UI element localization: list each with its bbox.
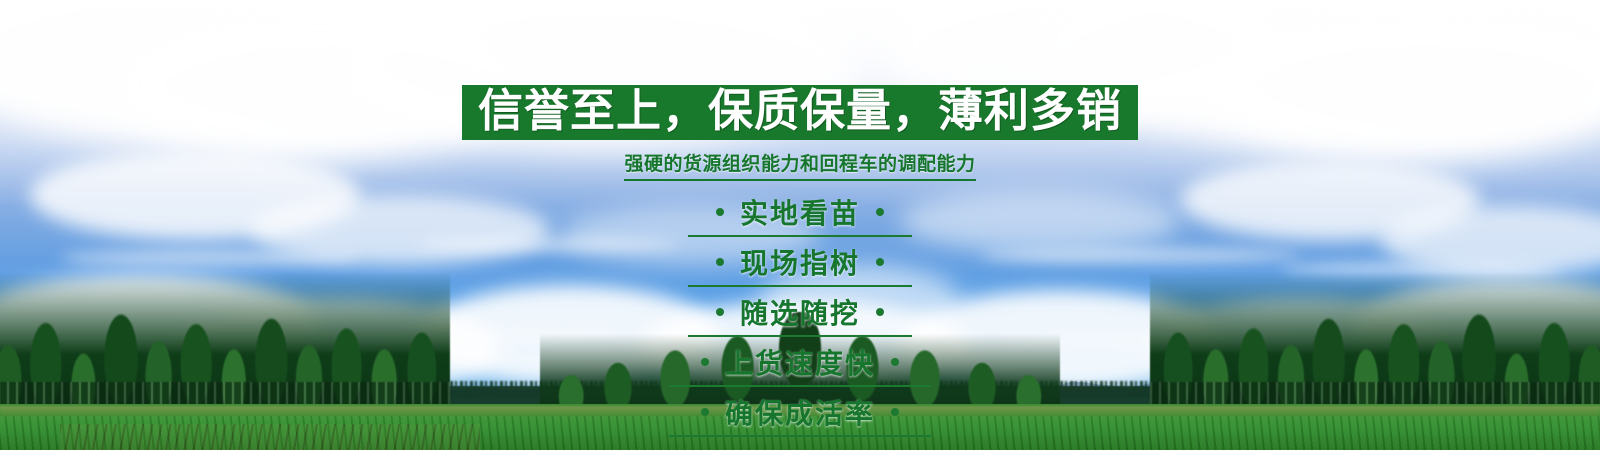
feature-label: 随选随挖 bbox=[740, 292, 860, 332]
bullet-dot-icon bbox=[876, 208, 884, 216]
bullet-dot-icon bbox=[716, 208, 724, 216]
title-banner: 信誉至上，保质保量，薄利多销 bbox=[462, 85, 1138, 140]
feature-list: 实地看苗 现场指树 随选随挖 上货速度快 确保成活率 bbox=[669, 191, 931, 441]
feature-item: 实地看苗 bbox=[688, 191, 912, 237]
feature-label: 确保成活率 bbox=[725, 392, 875, 432]
feature-item: 上货速度快 bbox=[669, 341, 931, 387]
feature-item: 随选随挖 bbox=[688, 291, 912, 337]
banner-subtitle: 强硬的货源组织能力和回程车的调配能力 bbox=[624, 149, 975, 181]
bullet-dot-icon bbox=[891, 408, 899, 416]
bullet-dot-icon bbox=[891, 358, 899, 366]
bullet-dot-icon bbox=[876, 308, 884, 316]
feature-label: 实地看苗 bbox=[740, 192, 860, 232]
banner-content: 信誉至上，保质保量，薄利多销 强硬的货源组织能力和回程车的调配能力 实地看苗 现… bbox=[0, 0, 1600, 441]
feature-label: 上货速度快 bbox=[725, 342, 875, 382]
bullet-dot-icon bbox=[716, 308, 724, 316]
bullet-dot-icon bbox=[876, 258, 884, 266]
bullet-dot-icon bbox=[716, 258, 724, 266]
promo-banner: 信誉至上，保质保量，薄利多销 强硬的货源组织能力和回程车的调配能力 实地看苗 现… bbox=[0, 0, 1600, 450]
bullet-dot-icon bbox=[701, 408, 709, 416]
feature-item: 现场指树 bbox=[688, 241, 912, 287]
feature-item: 确保成活率 bbox=[669, 391, 931, 437]
bullet-dot-icon bbox=[701, 358, 709, 366]
banner-title: 信誉至上，保质保量，薄利多销 bbox=[478, 88, 1122, 133]
feature-label: 现场指树 bbox=[740, 242, 860, 282]
